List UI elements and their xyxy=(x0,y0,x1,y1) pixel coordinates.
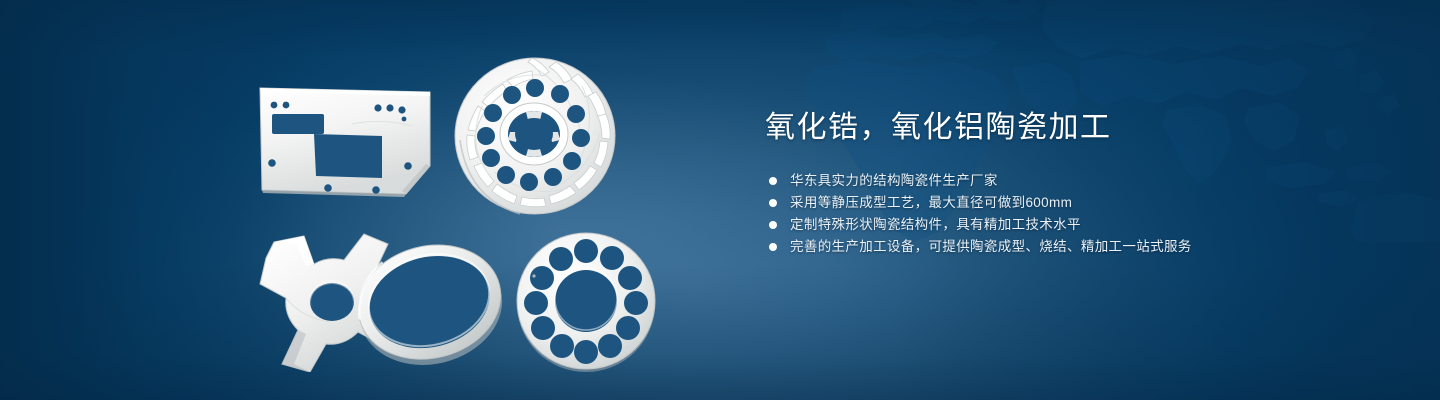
ceramic-ring-part xyxy=(348,228,512,374)
bullet-dot-icon xyxy=(769,221,777,229)
ceramic-perforated-disc-part xyxy=(512,228,660,374)
list-item: 定制特殊形状陶瓷结构件，具有精加工技术水平 xyxy=(769,214,1325,236)
bullet-dot-icon xyxy=(769,177,777,185)
feature-text: 定制特殊形状陶瓷结构件，具有精加工技术水平 xyxy=(790,214,1081,236)
promo-banner: 氧化锆，氧化铝陶瓷加工 华东具实力的结构陶瓷件生产厂家 采用等静压成型工艺，最大… xyxy=(0,0,1440,400)
ceramic-plate-part xyxy=(252,78,438,200)
bullet-dot-icon xyxy=(769,243,777,251)
bullet-dot-icon xyxy=(769,199,777,207)
banner-headline: 氧化锆，氧化铝陶瓷加工 xyxy=(765,108,1325,148)
list-item: 采用等静压成型工艺，最大直径可做到600mm xyxy=(769,192,1325,214)
banner-text-block: 氧化锆，氧化铝陶瓷加工 华东具实力的结构陶瓷件生产厂家 采用等静压成型工艺，最大… xyxy=(765,108,1325,258)
list-item: 华东具实力的结构陶瓷件生产厂家 xyxy=(769,170,1325,192)
feature-text: 华东具实力的结构陶瓷件生产厂家 xyxy=(790,170,998,192)
ceramic-impeller-part xyxy=(450,48,620,220)
feature-text: 采用等静压成型工艺，最大直径可做到600mm xyxy=(790,192,1072,214)
list-item: 完善的生产加工设备，可提供陶瓷成型、烧结、精加工一站式服务 xyxy=(769,236,1325,258)
banner-feature-list: 华东具实力的结构陶瓷件生产厂家 采用等静压成型工艺，最大直径可做到600mm 定… xyxy=(769,170,1325,258)
feature-text: 完善的生产加工设备，可提供陶瓷成型、烧结、精加工一站式服务 xyxy=(790,236,1192,258)
